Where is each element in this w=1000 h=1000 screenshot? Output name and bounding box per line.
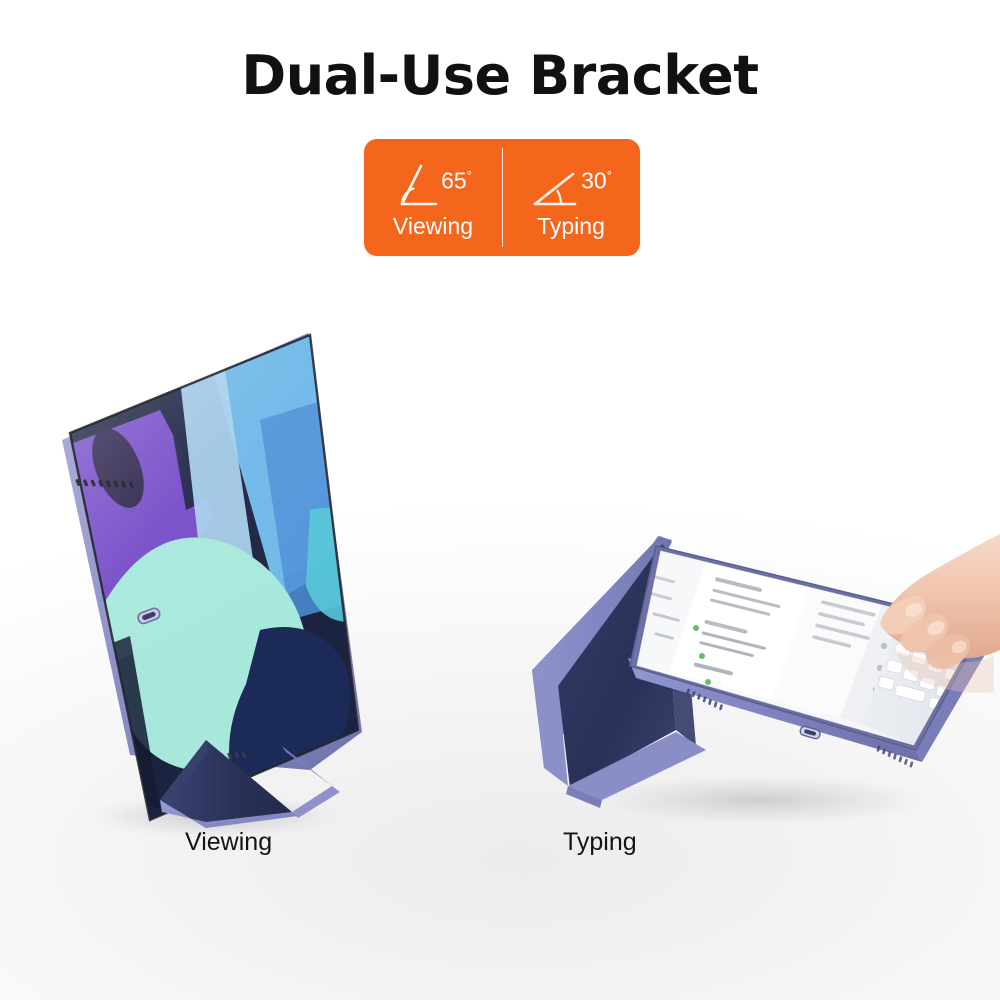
caption-typing: Typing bbox=[563, 828, 637, 857]
angle-badge: 65° Viewing 30° Typing bbox=[364, 139, 640, 256]
angle-30-value: 30° bbox=[581, 169, 612, 193]
product-photo-typing bbox=[510, 500, 1000, 840]
page-title: Dual-Use Bracket bbox=[0, 44, 1000, 107]
caption-viewing: Viewing bbox=[185, 828, 272, 857]
angle-65-value: 65° bbox=[441, 169, 472, 193]
badge-cell-typing: 30° Typing bbox=[502, 139, 640, 256]
badge-cell-viewing: 65° Viewing bbox=[364, 139, 502, 256]
angle-30-icon bbox=[530, 160, 580, 210]
product-photo-viewing bbox=[10, 300, 430, 840]
angle-65-icon bbox=[394, 160, 440, 210]
badge-label-viewing: Viewing bbox=[393, 214, 473, 238]
product-image-stage: Dual-Use Bracket 65° Viewing bbox=[0, 0, 1000, 1000]
badge-label-typing: Typing bbox=[537, 214, 605, 238]
angle-65-row: 65° bbox=[394, 160, 472, 210]
angle-30-row: 30° bbox=[530, 160, 612, 210]
